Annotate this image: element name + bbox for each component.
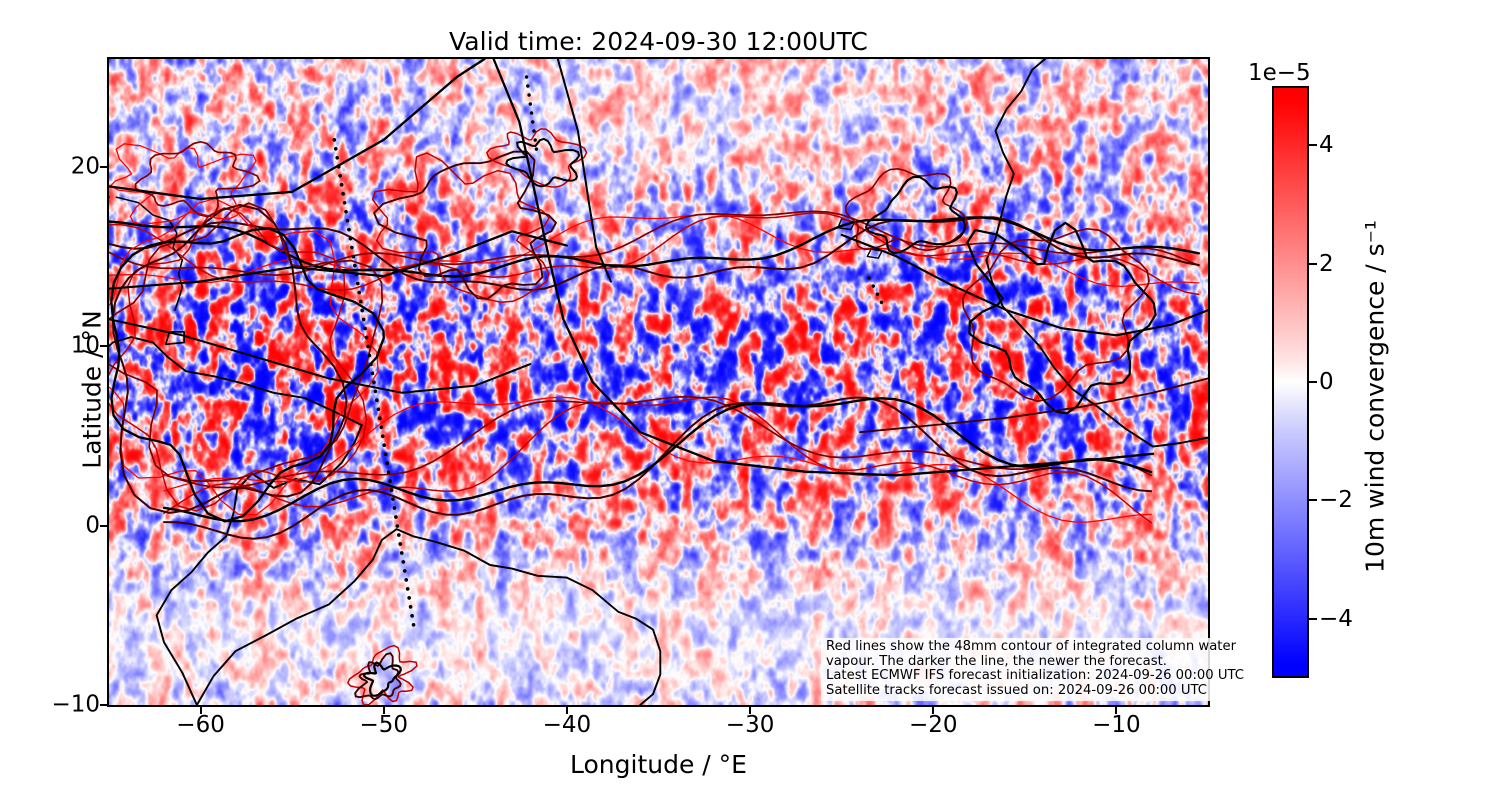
annotation-line-1: Red lines show the 48mm contour of integ… xyxy=(826,639,1236,654)
colorbar-tick-label: 4 xyxy=(1319,132,1334,158)
annotation-line-4: Satellite tracks forecast issued on: 202… xyxy=(826,683,1207,698)
y-tick-label: 0 xyxy=(85,512,100,539)
colorbar-tick-mark xyxy=(1309,381,1317,383)
annotation-line-3: Latest ECMWF IFS forecast initialization… xyxy=(826,668,1244,683)
figure-title: Valid time: 2024-09-30 12:00UTC xyxy=(107,27,1210,57)
annotation-textbox: Red lines show the 48mm contour of integ… xyxy=(821,638,1248,701)
x-tick-label: −10 xyxy=(1092,712,1141,739)
wind-convergence-heatmap xyxy=(109,59,1208,705)
y-tick-mark xyxy=(100,704,107,706)
x-tick-label: −50 xyxy=(359,712,408,739)
y-tick-label: 20 xyxy=(71,153,100,180)
y-tick-mark xyxy=(100,166,107,168)
colorbar-tick-label: 2 xyxy=(1319,251,1334,277)
y-tick-label: 10 xyxy=(71,333,100,360)
figure-canvas: Valid time: 2024-09-30 12:00UTC Red line… xyxy=(0,0,1500,800)
x-axis-label: Longitude / °E xyxy=(107,750,1210,779)
x-tick-label: −40 xyxy=(543,712,592,739)
y-tick-mark xyxy=(100,345,107,347)
x-tick-label: −30 xyxy=(726,712,775,739)
colorbar-tick-mark xyxy=(1309,144,1317,146)
x-tick-label: −60 xyxy=(176,712,225,739)
colorbar-tick-mark xyxy=(1309,618,1317,620)
colorbar-tick-mark xyxy=(1309,263,1317,265)
colorbar-tick-label: −4 xyxy=(1319,606,1353,632)
annotation-line-2: vapour. The darker the line, the newer t… xyxy=(826,654,1167,669)
map-plot-area xyxy=(107,57,1210,707)
colorbar-tick-mark xyxy=(1309,499,1317,501)
y-tick-label: −10 xyxy=(51,692,100,719)
x-tick-label: −20 xyxy=(909,712,958,739)
colorbar-gradient xyxy=(1272,86,1309,678)
colorbar-tick-label: 0 xyxy=(1319,369,1334,395)
colorbar-label: 10m wind convergence / s⁻¹ xyxy=(1361,101,1390,693)
y-tick-mark xyxy=(100,525,107,527)
colorbar-offset-text: 1e−5 xyxy=(1248,60,1311,86)
colorbar-tick-label: −2 xyxy=(1319,487,1353,513)
